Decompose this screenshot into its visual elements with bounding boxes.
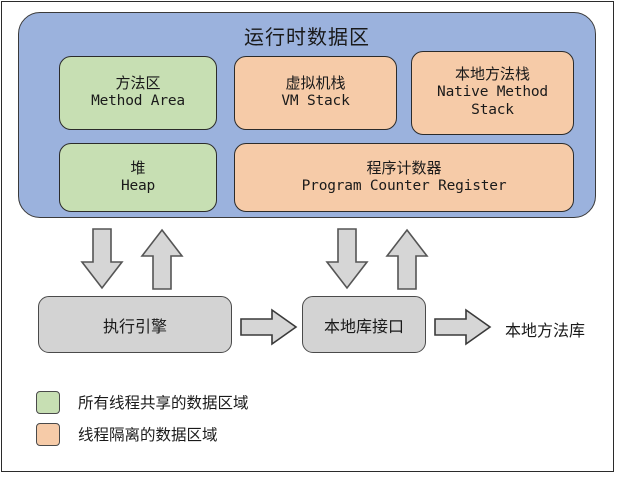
arrow-down-icon <box>80 228 124 290</box>
box-execution-engine-label: 执行引擎 <box>103 313 167 337</box>
region-program-counter-register-label-cn: 程序计数器 <box>366 160 441 178</box>
legend-label-isolated: 线程隔离的数据区域 <box>78 423 218 445</box>
legend-label-shared: 所有线程共享的数据区域 <box>78 391 249 413</box>
arrow-down-icon <box>325 228 369 290</box>
region-native-method-stack[interactable]: 本地方法栈 Native Method Stack <box>411 51 574 135</box>
region-method-area-label-en: Method Area <box>91 93 185 111</box>
region-native-method-stack-label-cn: 本地方法栈 <box>455 66 530 84</box>
box-native-library-interface-label: 本地库接口 <box>324 313 404 337</box>
region-native-method-stack-label-en: Native Method <box>437 84 548 102</box>
region-vm-stack-label-cn: 虚拟机栈 <box>285 75 345 93</box>
diagram-canvas: 运行时数据区 方法区 Method Area 虚拟机栈 VM Stack 本地方… <box>0 0 619 480</box>
region-program-counter-register-label-en: Program Counter Register <box>302 178 507 196</box>
region-heap-label-en: Heap <box>121 178 155 196</box>
region-program-counter-register[interactable]: 程序计数器 Program Counter Register <box>234 143 574 212</box>
region-vm-stack[interactable]: 虚拟机栈 VM Stack <box>234 56 397 130</box>
region-method-area-label-cn: 方法区 <box>115 75 160 93</box>
legend-swatch-isolated <box>36 423 60 446</box>
region-method-area[interactable]: 方法区 Method Area <box>59 56 217 130</box>
arrow-up-icon <box>140 228 184 290</box>
label-native-method-library: 本地方法库 <box>505 317 585 341</box>
arrow-up-icon <box>385 228 429 290</box>
runtime-data-area-title: 运行时数据区 <box>19 21 595 50</box>
region-native-method-stack-label-en-line2: Stack <box>471 102 514 120</box>
arrow-right-icon <box>240 308 298 346</box>
legend-item-isolated: 线程隔离的数据区域 <box>36 418 249 450</box>
box-execution-engine[interactable]: 执行引擎 <box>38 296 232 353</box>
runtime-data-area-panel: 运行时数据区 方法区 Method Area 虚拟机栈 VM Stack 本地方… <box>18 12 596 218</box>
legend-swatch-shared <box>36 391 60 414</box>
legend-item-shared: 所有线程共享的数据区域 <box>36 386 249 418</box>
box-native-library-interface[interactable]: 本地库接口 <box>302 296 426 353</box>
region-vm-stack-label-en: VM Stack <box>281 93 349 111</box>
region-heap-label-cn: 堆 <box>130 160 145 178</box>
region-heap[interactable]: 堆 Heap <box>59 143 217 212</box>
arrow-right-icon <box>434 308 492 346</box>
legend: 所有线程共享的数据区域 线程隔离的数据区域 <box>36 386 249 450</box>
